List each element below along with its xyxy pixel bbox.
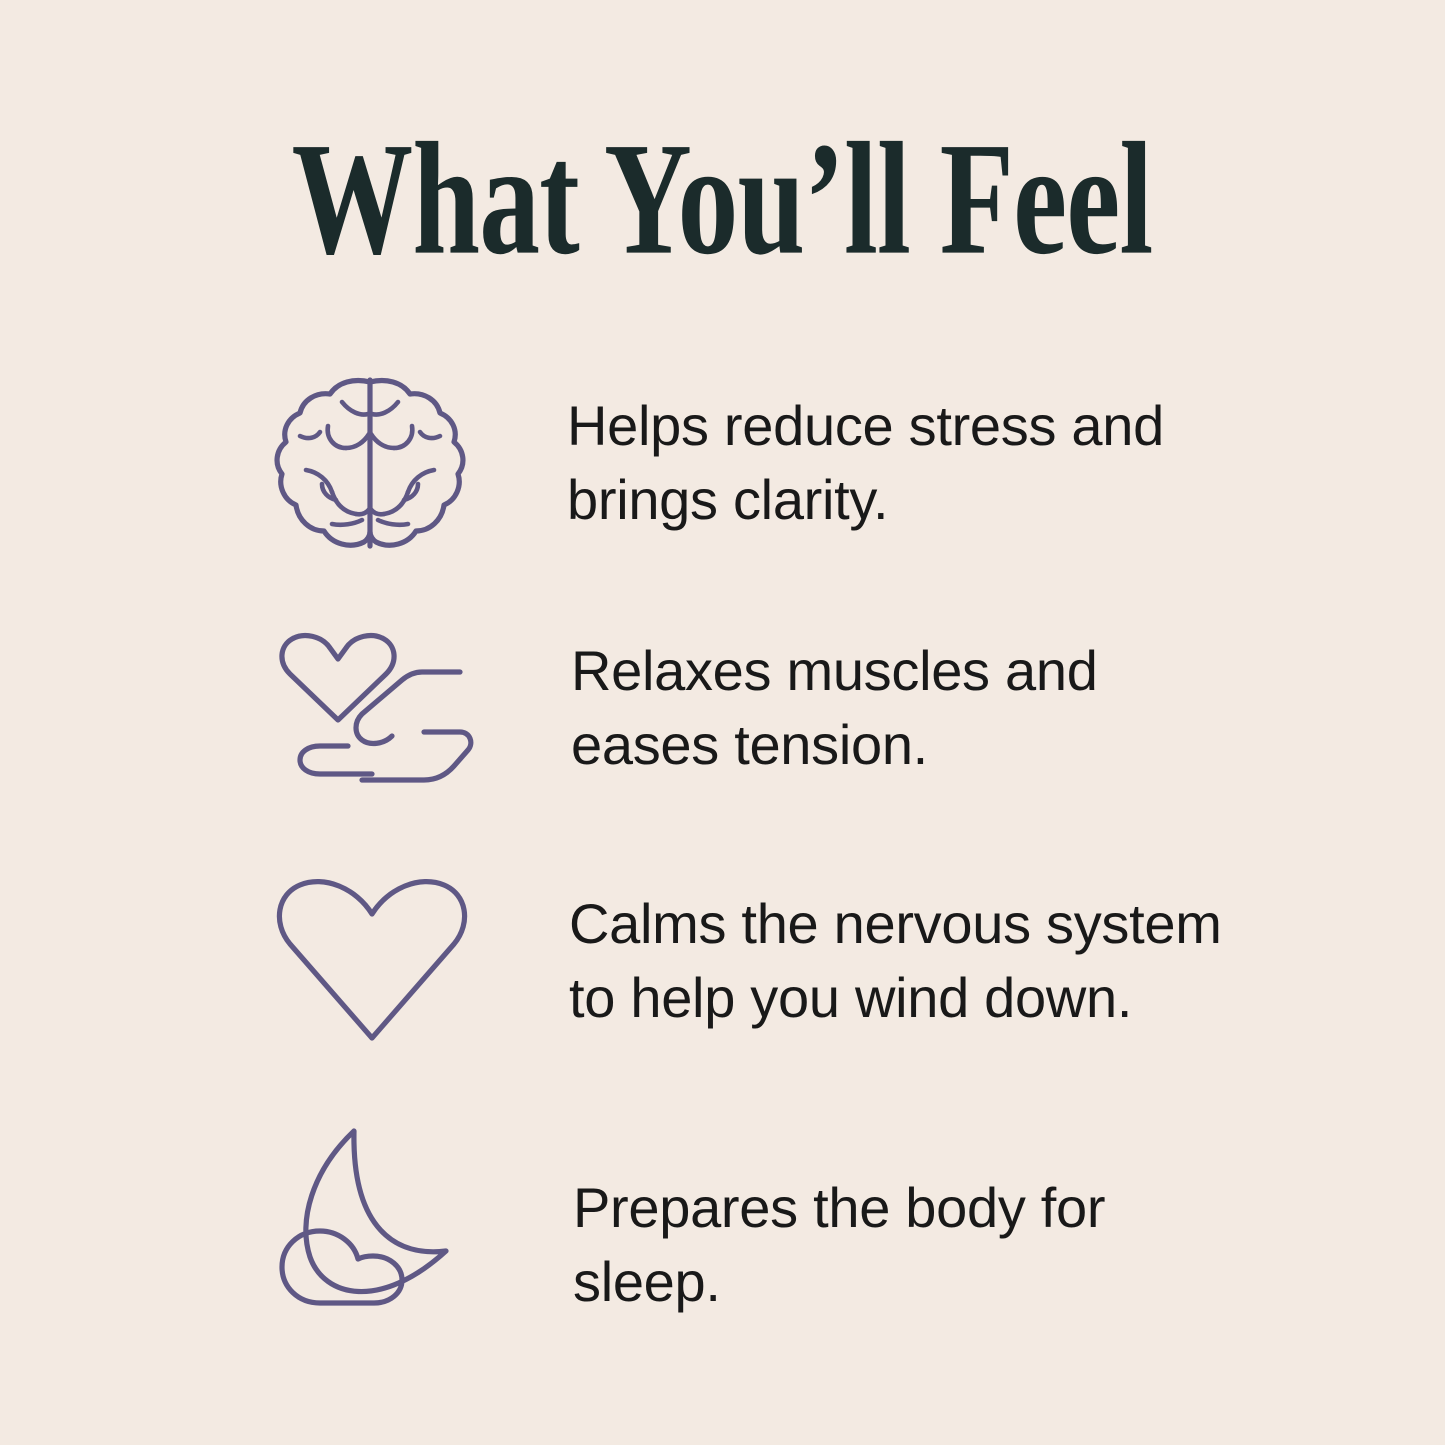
benefit-item: Helps reduce stress and brings clarity. xyxy=(258,338,1258,588)
benefit-label: Calms the nervous system to help you win… xyxy=(569,887,1229,1035)
moon-cloud-icon xyxy=(276,1125,474,1317)
benefit-text-cell: Relaxes muscles and eases tension. xyxy=(496,634,1258,782)
page-title-container: What You’ll Feel xyxy=(0,118,1445,270)
benefit-item: Prepares the body for sleep. xyxy=(258,1093,1258,1343)
benefits-list: Helps reduce stress and brings clarity. … xyxy=(258,338,1258,1343)
benefit-text-cell: Helps reduce stress and brings clarity. xyxy=(492,389,1258,537)
benefit-item: Calms the nervous system to help you win… xyxy=(258,828,1258,1093)
what-youll-feel-panel: What You’ll Feel xyxy=(0,0,1445,1445)
benefit-label: Relaxes muscles and eases tension. xyxy=(571,634,1231,782)
benefit-item: Relaxes muscles and eases tension. xyxy=(258,588,1258,828)
page-title: What You’ll Feel xyxy=(292,118,1153,279)
benefit-label: Prepares the body for sleep. xyxy=(573,1171,1233,1319)
heart-icon xyxy=(272,878,472,1044)
benefit-icon-cell xyxy=(258,1119,498,1317)
brain-icon xyxy=(270,374,470,552)
benefit-icon-cell xyxy=(258,878,494,1044)
benefit-text-cell: Prepares the body for sleep. xyxy=(498,1117,1258,1319)
benefit-icon-cell xyxy=(258,374,492,552)
benefit-label: Helps reduce stress and brings clarity. xyxy=(567,389,1227,537)
benefit-icon-cell xyxy=(258,632,496,784)
heart-in-hand-icon xyxy=(274,632,478,784)
benefit-text-cell: Calms the nervous system to help you win… xyxy=(494,887,1258,1035)
